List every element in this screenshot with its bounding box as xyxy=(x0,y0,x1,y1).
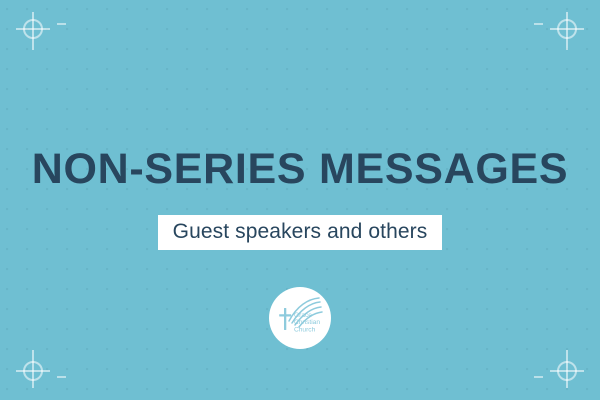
slide-canvas: NON-SERIES MESSAGES Guest speakers and o… xyxy=(0,0,600,400)
subtitle-badge: Guest speakers and others xyxy=(158,215,443,250)
logo-line-2: Christian xyxy=(294,319,320,326)
logo-line-3: Church xyxy=(294,327,316,334)
subtitle-container: Guest speakers and others xyxy=(0,215,600,250)
logo-line-1: Grace xyxy=(294,312,312,319)
logo-badge: Grace Christian Church xyxy=(269,287,331,349)
grace-christian-church-logo: Grace Christian Church xyxy=(269,287,331,349)
slide-content: NON-SERIES MESSAGES Guest speakers and o… xyxy=(0,0,600,400)
page-title: NON-SERIES MESSAGES xyxy=(0,147,600,192)
